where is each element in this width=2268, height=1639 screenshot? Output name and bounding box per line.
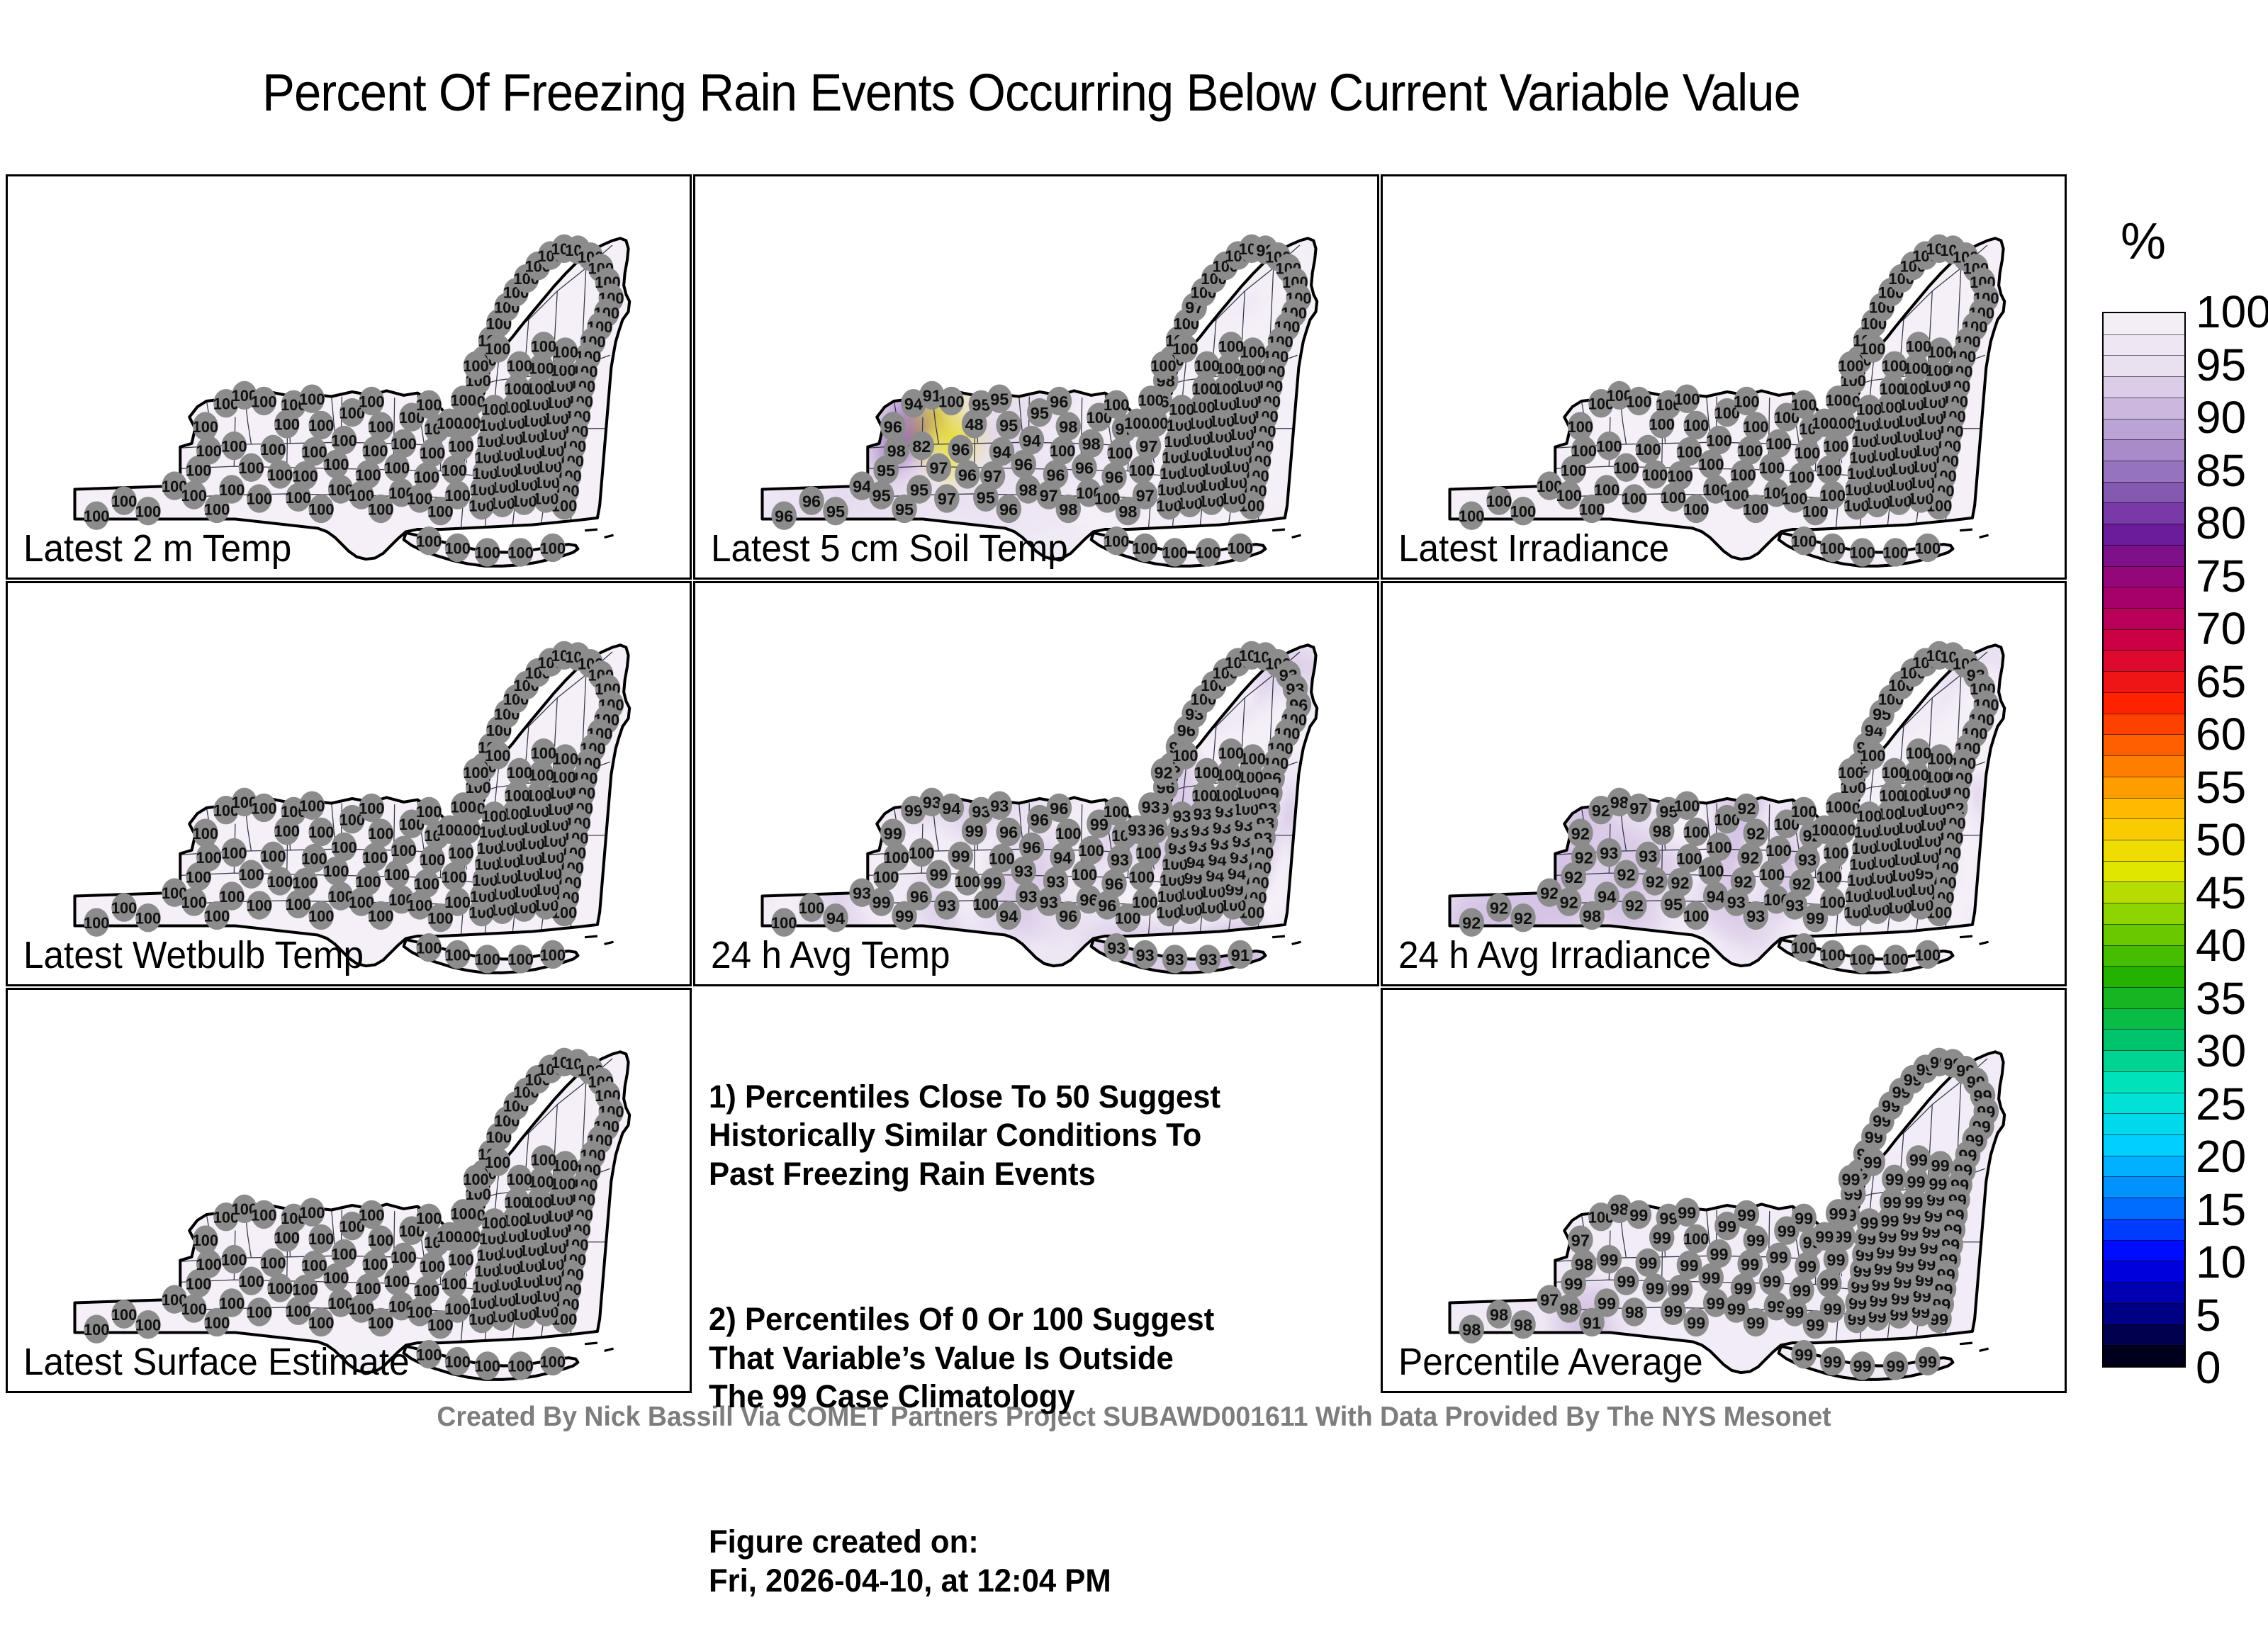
panel-label-latest-surface-estimate: Latest Surface Estimate — [23, 1340, 410, 1384]
station-value: 99 — [1841, 1171, 1860, 1189]
state-map: 1001001001001001001001001001001001001001… — [1383, 176, 2065, 578]
colorbar-segment — [2104, 439, 2184, 461]
station-marker — [451, 1199, 476, 1227]
station-marker — [1213, 252, 1238, 280]
station-value: 100 — [1826, 799, 1851, 816]
station-marker — [494, 293, 520, 321]
station-value: 100 — [1900, 257, 1926, 275]
colorbar-segment — [2104, 1261, 2184, 1282]
station-marker — [551, 235, 577, 263]
station-marker — [525, 1065, 551, 1093]
station-value: 100 — [525, 257, 551, 275]
station-value: 100 — [1878, 284, 1904, 302]
station-value: 100 — [478, 739, 503, 757]
colorbar-tick-label: 5 — [2196, 1292, 2221, 1338]
station-value: 100 — [1201, 270, 1226, 288]
station-marker — [486, 309, 512, 337]
colorbar-segment — [2104, 1113, 2184, 1134]
colorbar-tick-label: 85 — [2196, 448, 2246, 493]
colorbar-segment — [2104, 1282, 2184, 1303]
state-map: 1001001001001001001001001001001001001001… — [8, 990, 690, 1391]
station-value: 100 — [1213, 257, 1238, 275]
station-marker — [1861, 1122, 1887, 1151]
station-marker — [1138, 385, 1164, 414]
figure-created-on: Figure created on: Fri, 2026-04-10, at 1… — [709, 1523, 1342, 1600]
colorbar-tick-label: 20 — [2196, 1134, 2246, 1179]
station-marker — [1213, 658, 1238, 687]
map-panel-latest-wetbulb-temp[interactable]: 1001001001001001001001001001001001001001… — [6, 581, 692, 986]
contour-fill — [1424, 583, 2029, 984]
station-value: 100 — [1213, 664, 1238, 682]
station-value: 99 — [1873, 1112, 1891, 1130]
colorbar-segment — [2104, 482, 2184, 503]
station-value: 100 — [1853, 332, 1878, 350]
station-marker — [494, 1106, 520, 1134]
station-marker — [514, 1078, 539, 1106]
colorbar-segment — [2104, 714, 2184, 735]
colorbar-tick-label: 80 — [2196, 500, 2246, 546]
station-value: 92 — [1154, 764, 1172, 782]
station-marker — [551, 1048, 577, 1076]
colorbar-segment — [2104, 1156, 2184, 1177]
station-marker — [538, 241, 563, 269]
colorbar-tick-label: 45 — [2196, 870, 2246, 916]
colorbar-tick-label: 40 — [2196, 923, 2246, 968]
colorbar-segment — [2104, 798, 2184, 819]
colorbar-segment — [2104, 650, 2184, 672]
panel-label-24h-avg-irradiance: 24 h Avg Irradiance — [1398, 933, 1711, 977]
station-value: 100 — [1191, 691, 1216, 709]
colorbar-segment — [2104, 903, 2184, 924]
station-value: 100 — [1225, 654, 1250, 672]
station-value: 100 — [1174, 315, 1199, 332]
contour-fill — [62, 176, 636, 578]
state-map: 1001001001001001001001001001001001001001… — [8, 176, 690, 578]
station-value: 100 — [1912, 654, 1938, 672]
station-marker — [1889, 264, 1914, 293]
colorbar-segment — [2104, 1093, 2184, 1114]
station-value: 100 — [1838, 357, 1863, 375]
station-value: 96 — [1177, 721, 1196, 740]
station-marker — [538, 1054, 563, 1083]
station-marker — [1181, 293, 1207, 321]
station-marker — [503, 1091, 529, 1120]
colorbar-segment — [2104, 818, 2184, 840]
station-marker — [1191, 685, 1216, 713]
station-marker — [1926, 235, 1952, 263]
station-value: 100 — [1888, 270, 1914, 288]
map-canvas: 9696959495959896949110082979595979696489… — [695, 176, 1377, 578]
station-value: 100 — [537, 247, 563, 265]
offshore-detail — [1272, 936, 1301, 944]
map-canvas: 1001001001001001001001001001001001001001… — [8, 583, 690, 984]
station-value: 100 — [486, 721, 512, 739]
station-value: 93 — [1142, 798, 1160, 816]
station-value: 100 — [451, 799, 476, 816]
colorbar-segment — [2104, 1134, 2184, 1156]
station-marker — [1878, 685, 1904, 713]
colorbar-segment — [2104, 1219, 2184, 1240]
colorbar-segment — [2104, 1303, 2184, 1324]
offshore-detail — [1960, 529, 1988, 537]
colorbar-segment — [2104, 1240, 2184, 1261]
station-value: 100 — [451, 1205, 476, 1223]
station-marker — [1878, 1091, 1904, 1120]
station-marker — [503, 278, 529, 306]
colorbar-tick-label: 35 — [2196, 976, 2246, 1021]
map-canvas: 9898989798999897100989999999991989999999… — [1383, 990, 2065, 1391]
station-value: 100 — [537, 654, 563, 672]
station-value: 95 — [1873, 705, 1891, 723]
station-value: 100 — [1912, 247, 1938, 265]
state-map: 1001009493991001009999939410099969993100… — [695, 583, 1377, 984]
station-marker — [551, 641, 577, 670]
offshore-detail — [585, 936, 613, 944]
state-map: 1001001001001001001001001001001001001001… — [8, 583, 690, 984]
station-value: 100 — [1838, 764, 1863, 782]
station-value: 100 — [494, 299, 520, 317]
colorbar-tick-label: 50 — [2196, 817, 2246, 862]
station-marker — [1138, 792, 1164, 821]
offshore-detail — [1960, 936, 1988, 944]
map-canvas: 1001001001001001001001001001001001001001… — [1383, 176, 2065, 578]
station-value: 100 — [478, 1146, 503, 1164]
station-marker — [1913, 241, 1938, 269]
note-1: 1) Percentiles Close To 50 Suggest Histo… — [709, 1078, 1342, 1193]
station-value: 100 — [451, 392, 476, 410]
colorbar-segment — [2104, 692, 2184, 714]
station-value: 99 — [1892, 1083, 1911, 1102]
colorbar-segment — [2104, 1176, 2184, 1198]
state-map: 9292929292929292929897939294989292939895… — [1383, 583, 2065, 984]
map-panel-percentile-average[interactable]: 9898989798999897100989999999991989999999… — [1381, 988, 2067, 1393]
colorbar-tick-label: 55 — [2196, 765, 2246, 810]
station-marker — [1900, 658, 1926, 687]
state-map: 9696959495959896949110082979595979696489… — [695, 176, 1377, 578]
colorbar-segment — [2104, 1008, 2184, 1030]
station-value: 100 — [503, 284, 529, 302]
station-value: 99 — [1856, 1145, 1875, 1164]
colorbar-segment — [2104, 608, 2184, 629]
station-marker — [1225, 241, 1251, 269]
station-value: 100 — [513, 677, 539, 694]
station-value: 93 — [1169, 738, 1187, 757]
station-value: 100 — [1201, 677, 1226, 694]
colorbar-segment — [2104, 1324, 2184, 1346]
station-marker — [1913, 1054, 1938, 1083]
station-value: 100 — [463, 357, 488, 375]
panel-label-24h-avg-temp: 24 h Avg Temp — [711, 933, 950, 977]
colorbar-tick-label: 25 — [2196, 1081, 2246, 1127]
station-marker — [525, 658, 551, 687]
colorbar-tick-label: 75 — [2196, 553, 2246, 599]
station-marker — [1900, 1065, 1926, 1093]
state-map: 9898989798999897100989999999991989999999… — [1383, 990, 2065, 1391]
station-value: 100 — [503, 691, 529, 709]
station-marker — [1826, 385, 1851, 414]
station-marker — [1889, 1078, 1914, 1106]
station-marker — [464, 1165, 489, 1193]
contour-fill — [741, 176, 1341, 578]
panel-label-latest-5cm-soil-temp: Latest 5 cm Soil Temp — [711, 526, 1068, 570]
station-value: 100 — [1239, 647, 1264, 665]
page-title: Percent Of Freezing Rain Events Occurrin… — [72, 62, 1990, 123]
station-marker — [494, 699, 520, 728]
station-value: 100 — [1926, 240, 1952, 258]
station-value: 100 — [494, 1113, 520, 1130]
station-value: 99 — [1865, 1128, 1883, 1147]
station-value: 100 — [525, 664, 551, 682]
panel-label-latest-wetbulb-temp: Latest Wetbulb Temp — [23, 933, 364, 977]
colorbar-segment — [2104, 629, 2184, 650]
station-marker — [1889, 671, 1914, 699]
station-value: 100 — [1878, 691, 1904, 709]
station-marker — [514, 671, 539, 699]
station-marker — [464, 351, 489, 380]
station-marker — [1926, 1048, 1952, 1076]
colorbar-tick-label: 100 — [2196, 289, 2268, 334]
station-marker — [1826, 792, 1851, 821]
station-value: 100 — [525, 1071, 551, 1088]
contour-fill — [1437, 176, 2011, 578]
station-value: 100 — [551, 240, 577, 258]
station-marker — [1838, 1165, 1864, 1193]
colorbar-segment — [2104, 861, 2184, 882]
panel-label-latest-2m-temp: Latest 2 m Temp — [23, 526, 291, 570]
station-marker — [1838, 351, 1864, 380]
station-marker — [1869, 293, 1894, 321]
colorbar-segment — [2104, 882, 2184, 903]
station-marker — [464, 758, 489, 787]
colorbar-segment — [2104, 461, 2184, 482]
offshore-detail — [585, 1343, 613, 1351]
colorbar-segment — [2104, 398, 2184, 419]
station-value: 98 — [1856, 738, 1875, 757]
station-value: 100 — [1869, 299, 1894, 317]
station-value: 100 — [1861, 315, 1887, 332]
colorbar-segment — [2104, 334, 2184, 356]
map-canvas: 1001001001001001001001001001001001001001… — [8, 990, 690, 1391]
map-panel-latest-irradiance[interactable]: 1001001001001001001001001001001001001001… — [1381, 174, 2067, 580]
station-value: 100 — [503, 1098, 529, 1115]
station-value: 100 — [1165, 332, 1191, 350]
station-value: 100 — [494, 706, 520, 723]
station-marker — [1239, 641, 1264, 670]
colorbar-segment — [2104, 587, 2184, 608]
colorbar-unit-label: % — [2101, 213, 2186, 271]
colorbar-segment — [2104, 755, 2184, 777]
colorbar-gradient — [2102, 312, 2186, 1368]
station-value: 100 — [551, 647, 577, 665]
colorbar-tick-label: 95 — [2196, 342, 2246, 388]
colorbar-tick-label: 10 — [2196, 1239, 2246, 1285]
station-value: 99 — [1904, 1071, 1922, 1089]
colorbar-segment — [2104, 502, 2184, 524]
station-value: 100 — [478, 332, 503, 350]
panel-label-percentile-average: Percentile Average — [1398, 1340, 1703, 1384]
notes-block: 1) Percentiles Close To 50 Suggest Histo… — [709, 1001, 1342, 1639]
panel-label-latest-irradiance: Latest Irradiance — [1398, 526, 1669, 570]
station-value: 100 — [1900, 664, 1926, 682]
contour-fill — [62, 583, 636, 984]
offshore-detail — [585, 529, 613, 537]
colorbar-segment — [2104, 313, 2184, 334]
colorbar-segment — [2104, 840, 2184, 861]
colorbar-tick-label: 90 — [2196, 395, 2246, 440]
contour-fill — [1430, 990, 2010, 1391]
colorbar-segment — [2104, 924, 2184, 945]
station-value: 100 — [1150, 357, 1176, 375]
station-value: 99 — [1930, 1054, 1948, 1072]
station-marker — [1201, 264, 1227, 293]
station-marker — [1201, 671, 1227, 699]
colorbar-tick-label: 65 — [2196, 659, 2246, 704]
station-value: 100 — [1138, 392, 1164, 410]
colorbar-segment — [2104, 966, 2184, 987]
colorbar-tick-label: 70 — [2196, 606, 2246, 651]
map-panel-latest-2m-temp[interactable]: 1001001001001001001001001001001001001001… — [6, 174, 692, 580]
station-marker — [1869, 1106, 1894, 1134]
map-canvas: 1001001001001001001001001001001001001001… — [8, 176, 690, 578]
station-marker — [525, 252, 551, 280]
colorbar-segment — [2104, 1029, 2184, 1050]
colorbar-segment — [2104, 671, 2184, 692]
station-value: 100 — [537, 1061, 563, 1078]
colorbar-segment — [2104, 355, 2184, 376]
station-value: 100 — [463, 1171, 488, 1188]
station-value: 97 — [1185, 298, 1203, 317]
offshore-detail — [1272, 529, 1301, 537]
colorbar-segment — [2104, 1071, 2184, 1093]
station-value: 100 — [1926, 647, 1952, 665]
colorbar-segment — [2104, 1198, 2184, 1219]
map-panel-latest-5cm-soil-temp[interactable]: 9696959495959896949110082979595979696489… — [693, 174, 1379, 580]
colorbar: % 10095908580757065605550454035302520151… — [2091, 213, 2268, 1403]
colorbar-segment — [2104, 1050, 2184, 1071]
map-panel-24h-avg-irradiance[interactable]: 9292929292929292929897939294989292939895… — [1381, 581, 2067, 986]
colorbar-tick-label: 0 — [2196, 1345, 2221, 1390]
colorbar-segment — [2104, 1345, 2184, 1366]
station-marker — [1878, 278, 1904, 306]
station-value: 100 — [1191, 284, 1216, 302]
station-marker — [1838, 758, 1864, 787]
station-marker — [1151, 758, 1177, 787]
station-marker — [1239, 235, 1264, 263]
map-panel-24h-avg-temp[interactable]: 1001009493991001009999939410099969993100… — [693, 581, 1379, 986]
station-marker — [1861, 716, 1887, 744]
colorbar-segment — [2104, 545, 2184, 566]
station-marker — [1181, 699, 1207, 728]
station-value: 93 — [1185, 705, 1203, 723]
contour-fill — [740, 583, 1340, 984]
station-marker — [1861, 309, 1887, 337]
map-canvas: 1001009493991001009999939410099969993100… — [695, 583, 1377, 984]
colorbar-segment — [2104, 524, 2184, 545]
station-marker — [1225, 648, 1251, 676]
station-value: 100 — [486, 315, 512, 332]
station-marker — [538, 648, 563, 676]
station-value: 94 — [1865, 721, 1883, 740]
station-marker — [1191, 278, 1216, 306]
colorbar-segment — [2104, 945, 2184, 967]
offshore-detail — [1960, 1343, 1988, 1351]
map-canvas: 9292929292929292929897939294989292939895… — [1383, 583, 2065, 984]
station-marker — [1869, 699, 1894, 728]
station-marker — [486, 1122, 512, 1151]
colorbar-ticks: 1009590858075706560555045403530252015105… — [2190, 312, 2268, 1368]
station-value: 99 — [1916, 1060, 1935, 1078]
colorbar-segment — [2104, 566, 2184, 587]
station-value: 100 — [1225, 247, 1250, 265]
station-value: 100 — [486, 1128, 512, 1146]
station-marker — [1826, 1199, 1851, 1227]
station-marker — [1913, 648, 1938, 676]
contour-fill — [62, 990, 636, 1391]
station-marker — [1174, 309, 1199, 337]
colorbar-segment — [2104, 734, 2184, 755]
station-value: 99 — [1829, 1205, 1848, 1223]
colorbar-segment — [2104, 987, 2184, 1008]
colorbar-segment — [2104, 777, 2184, 798]
colorbar-tick-label: 15 — [2196, 1187, 2246, 1232]
station-marker — [503, 685, 529, 713]
station-marker — [1151, 351, 1177, 380]
colorbar-segment — [2104, 376, 2184, 398]
station-value: 100 — [1826, 392, 1851, 410]
station-marker — [514, 264, 539, 293]
station-value: 100 — [513, 270, 539, 288]
note-2: 2) Percentiles Of 0 Or 100 Suggest That … — [709, 1300, 1342, 1416]
station-value: 100 — [1888, 677, 1914, 694]
station-marker — [1174, 716, 1199, 744]
station-marker — [451, 792, 476, 821]
colorbar-segment — [2104, 419, 2184, 440]
station-value: 100 — [1239, 240, 1264, 258]
station-value: 100 — [513, 1083, 539, 1101]
colorbar-tick-label: 60 — [2196, 711, 2246, 757]
colorbar-tick-label: 30 — [2196, 1028, 2246, 1074]
station-marker — [486, 716, 512, 744]
station-value: 100 — [463, 764, 488, 782]
station-value: 99 — [1882, 1097, 1900, 1115]
map-panel-latest-surface-estimate[interactable]: 1001001001001001001001001001001001001001… — [6, 988, 692, 1393]
station-marker — [451, 385, 476, 414]
station-value: 100 — [551, 1054, 577, 1071]
station-marker — [1926, 641, 1952, 670]
station-marker — [1900, 252, 1926, 280]
